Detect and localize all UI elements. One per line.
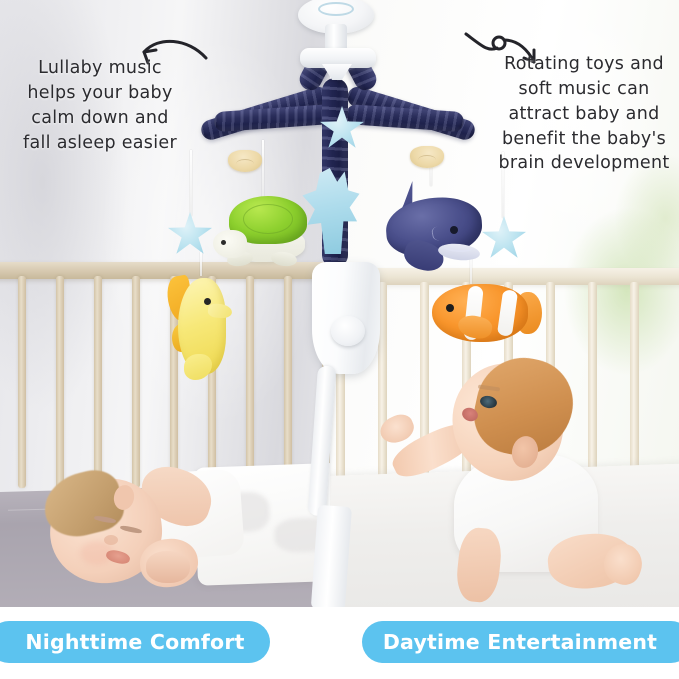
caption-line: attract baby and [492,102,676,127]
banner-daytime-entertainment: Daytime Entertainment [362,621,679,663]
green-turtle-plush [213,196,311,274]
caption-line: fall asleep easier [6,131,194,156]
product-feature-image: Lullaby music helps your baby calm down … [0,0,679,679]
banner-bar: Nighttime Comfort Daytime Entertainment [0,607,679,679]
shell-ornament [228,150,262,172]
banner-nighttime-comfort: Nighttime Comfort [0,621,270,663]
caption-rotating-toys: Rotating toys and soft music can attract… [492,52,676,176]
blue-star-plush-right [482,216,526,260]
orange-clownfish-plush [424,278,540,352]
baby-nose [104,535,118,545]
caption-line: soft music can [492,77,676,102]
caption-line: helps your baby [6,81,194,106]
caption-line: calm down and [6,106,194,131]
blue-star-plush-left [168,212,212,256]
toy-string [190,150,192,216]
caption-line: Rotating toys and [492,52,676,77]
crib-clamp-base [311,505,352,607]
music-box-knob[interactable] [331,316,365,346]
shell-ornament [410,146,444,168]
mobile-top-ring [318,2,354,16]
yellow-seahorse-plush [170,272,234,382]
velvet-arm [345,104,464,132]
caption-lullaby: Lullaby music helps your baby calm down … [6,56,194,155]
caption-line: brain development [492,151,676,176]
velvet-arm [214,104,333,132]
navy-whale-plush [376,182,486,286]
caption-line: benefit the baby's [492,127,676,152]
photo-composite: Lullaby music helps your baby calm down … [0,0,679,607]
crib-clamp-arm [308,365,336,516]
toy-string [262,140,264,198]
caption-line: Lullaby music [6,56,194,81]
baby-fingers [146,551,190,583]
